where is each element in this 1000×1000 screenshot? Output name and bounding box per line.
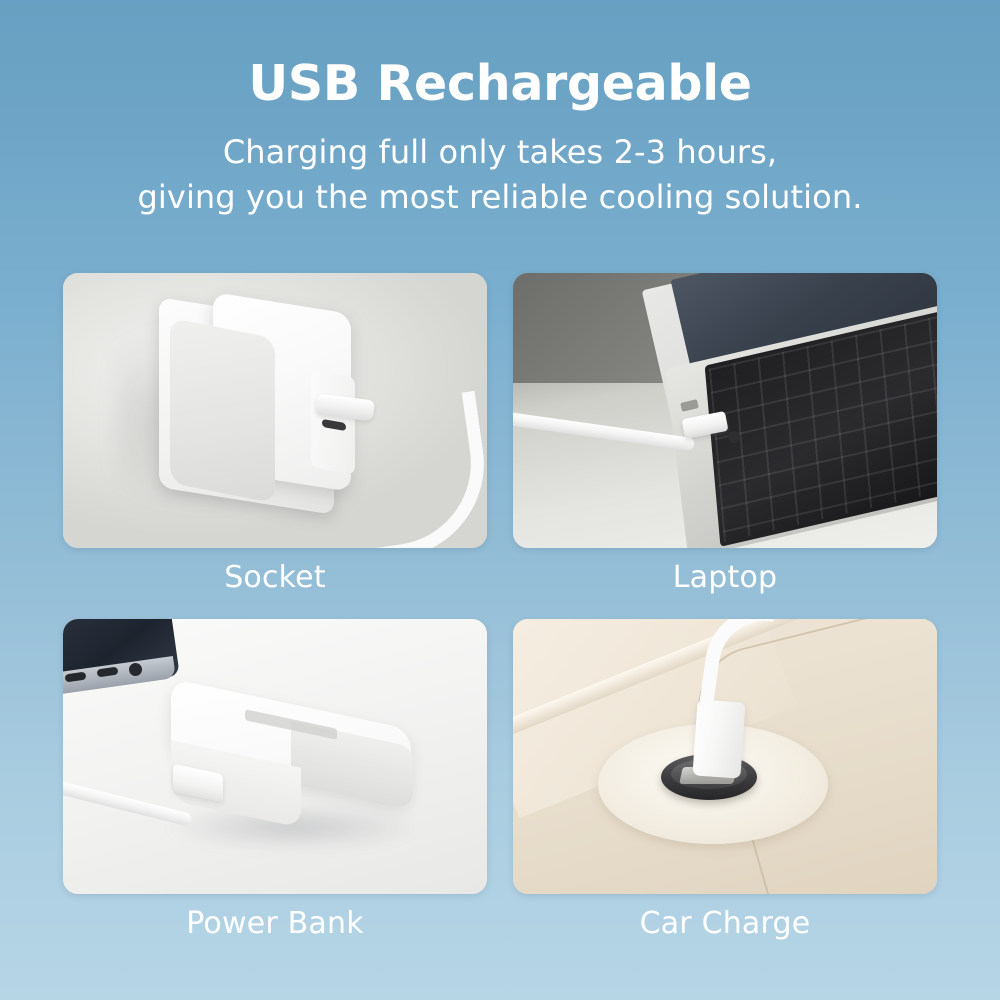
tile-car-charge[interactable]: Car Charge (513, 619, 937, 941)
subtitle-line-1: Charging full only takes 2-3 hours, (0, 130, 1000, 175)
tile-caption-car-charge: Car Charge (513, 906, 937, 941)
power-bank-scene (63, 619, 487, 894)
socket-scene (63, 273, 487, 548)
page-subtitle: Charging full only takes 2-3 hours, givi… (0, 130, 1000, 221)
header: USB Rechargeable Charging full only take… (0, 0, 1000, 221)
tile-caption-laptop: Laptop (513, 560, 937, 595)
tile-caption-power-bank: Power Bank (63, 906, 487, 941)
charger-face (170, 318, 275, 503)
tile-laptop[interactable]: Laptop (513, 273, 937, 595)
laptop-photo (513, 273, 937, 548)
tile-power-bank[interactable]: Power Bank (63, 619, 487, 941)
car-charge-photo (513, 619, 937, 894)
page-title: USB Rechargeable (0, 58, 1000, 111)
car-charge-scene (513, 619, 937, 894)
power-bank-photo (63, 619, 487, 894)
laptop-scene (513, 273, 937, 548)
feature-tile-grid: Socket Laptop (63, 273, 937, 941)
tile-caption-socket: Socket (63, 560, 487, 595)
socket-photo (63, 273, 487, 548)
subtitle-line-2: giving you the most reliable cooling sol… (0, 175, 1000, 220)
tile-socket[interactable]: Socket (63, 273, 487, 595)
